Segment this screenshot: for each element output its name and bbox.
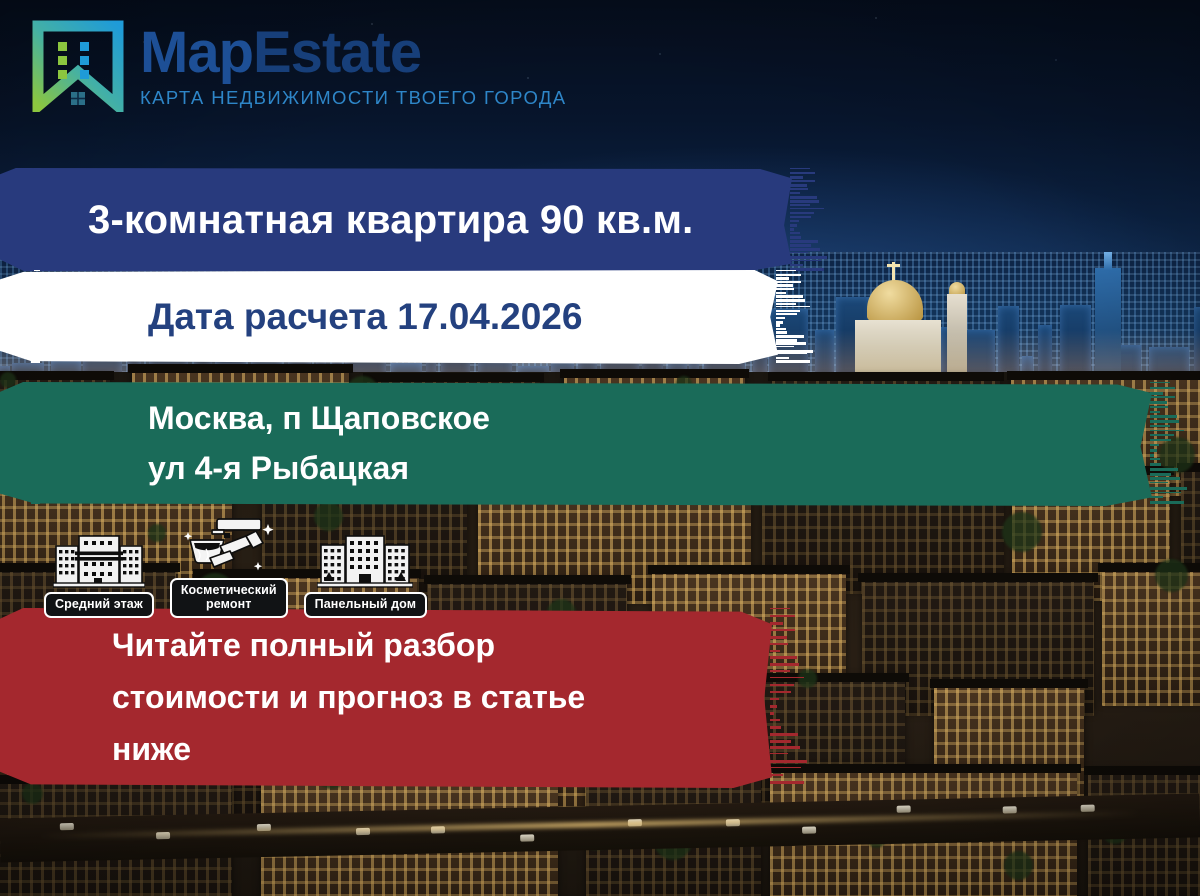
cta-line-1: Читайте полный разбор [0, 620, 772, 672]
badge-cosmetic-repair: Косметический ремонт [170, 518, 288, 618]
badge-label: Косметический ремонт [170, 578, 288, 618]
feature-badges: Средний этаж [44, 518, 427, 618]
brand-name-part2: Estate [253, 20, 421, 85]
brand-name: MapEstate [140, 24, 567, 82]
panel-house-icon [317, 532, 413, 590]
address-line-2: ул 4-я Рыбацкая [0, 444, 1152, 494]
address-line-1: Москва, п Щаповское [0, 394, 1152, 444]
cta-line-3: ниже [0, 724, 772, 776]
paint-roller-brush-icon [180, 518, 278, 576]
badge-label: Средний этаж [44, 592, 154, 618]
address-band: Москва, п Щаповское ул 4-я Рыбацкая [0, 382, 1152, 506]
title-band: 3-комнатная квартира 90 кв.м. [0, 168, 792, 272]
brand-tagline: КАРТА НЕДВИЖИМОСТИ ТВОЕГО ГОРОДА [140, 89, 567, 108]
listing-title: 3-комнатная квартира 90 кв.м. [0, 198, 792, 243]
brand-logo[interactable]: MapEstate КАРТА НЕДВИЖИМОСТИ ТВОЕГО ГОРО… [30, 20, 567, 112]
date-band: Дата расчета 17.04.2026 [0, 270, 778, 364]
cta-band: Читайте полный разбор стоимости и прогно… [0, 608, 772, 788]
calculation-date: Дата расчета 17.04.2026 [0, 296, 778, 338]
brand-name-part1: Map [140, 20, 253, 85]
bookmark-building-icon [30, 20, 126, 112]
brush-streak [34, 270, 40, 271]
badge-panel-house: Панельный дом [304, 532, 427, 618]
mid-floor-building-icon [53, 532, 145, 590]
badge-label: Панельный дом [304, 592, 427, 618]
listing-poster: MapEstate КАРТА НЕДВИЖИМОСТИ ТВОЕГО ГОРО… [0, 0, 1200, 896]
badge-mid-floor: Средний этаж [44, 532, 154, 618]
cta-line-2: стоимости и прогноз в статье [0, 672, 772, 724]
